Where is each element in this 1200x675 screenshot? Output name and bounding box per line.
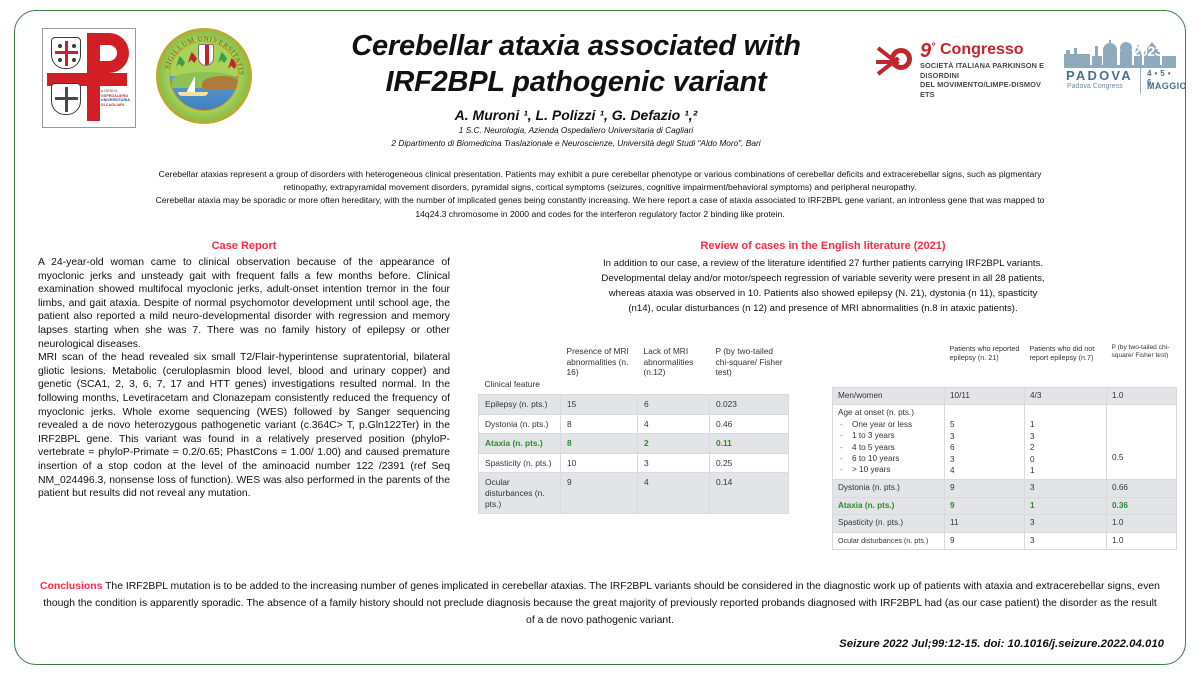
padova-divider <box>1140 68 1141 94</box>
cell-feature: Ataxia (n. pts.) <box>833 497 945 514</box>
review-line-3: whereas ataxia was observed in 10. Patie… <box>470 286 1176 301</box>
cell-epilepsy: 9 <box>945 532 1025 549</box>
cell-feature: Spasticity (n. pts.) <box>479 453 561 473</box>
age-onset-list: One year or less 1 to 3 years 4 to 5 yea… <box>838 419 940 476</box>
affiliation-1: 1 S.C. Neurologia, Azienda Ospedaliero U… <box>290 125 862 136</box>
poster-canvas: AZIENDA OSPEDALIERO UNIVERSITARIA DI CAG… <box>0 0 1200 675</box>
seal-hull-icon <box>178 92 208 96</box>
logo-line-cagliari: DI CAGLIARI <box>101 103 133 108</box>
table-row: Ocular disturbances (n. pts.) 9 3 1.0 <box>833 532 1177 549</box>
padova-year: 2023 <box>1133 43 1162 59</box>
review-column: Review of cases in the English literatur… <box>470 240 1176 316</box>
cell-feature: Men/women <box>833 388 945 405</box>
abstract-line-1: Cerebellar ataxias represent a group of … <box>32 168 1168 181</box>
list-item: 1 to 3 years <box>838 430 940 441</box>
table-row-age-at-onset: Age at onset (n. pts.) One year or less … <box>833 405 1177 480</box>
congress-number: 9° <box>920 40 935 63</box>
value: 5 <box>950 419 1020 430</box>
value: 0 <box>1030 454 1102 465</box>
cell-present: 15 <box>561 395 638 415</box>
cell-lack: 3 <box>638 453 710 473</box>
case-report-body: A 24-year-old woman came to clinical obs… <box>38 256 450 501</box>
conclusions-text: The IRF2BPL mutation is to be added to t… <box>43 581 1160 626</box>
cell-no-epilepsy: 3 <box>1025 480 1107 497</box>
poster-header: AZIENDA OSPEDALIERO UNIVERSITARIA DI CAG… <box>28 22 1172 150</box>
page-title: Cerebellar ataxia associated with IRF2BP… <box>290 22 862 100</box>
table-row-header: Patients who reported epilepsy (n. 21) P… <box>833 338 1177 388</box>
value: 3 <box>1030 431 1102 442</box>
case-report-paragraph-2: MRI scan of the head revealed six small … <box>38 351 450 501</box>
cell-present: 8 <box>561 414 638 434</box>
abstract-block: Cerebellar ataxias represent a group of … <box>32 168 1168 221</box>
title-block: Cerebellar ataxia associated with IRF2BP… <box>290 22 862 149</box>
cell-present: 8 <box>561 434 638 454</box>
th-no-epilepsy: Patients who did not report epilepsy (n.… <box>1025 338 1107 388</box>
conclusions-block: Conclusions The IRF2BPL mutation is to b… <box>38 578 1162 629</box>
seal-sail-icon <box>186 76 195 93</box>
title-line-1: Cerebellar ataxia associated with <box>290 28 862 64</box>
congress-word: Congresso <box>940 41 1024 59</box>
affiliation-2: 2 Dipartimento di Biomedicina Traslazion… <box>290 138 862 149</box>
cell-p: 0.66 <box>1107 480 1177 497</box>
cell-p: 0.46 <box>710 414 789 434</box>
table-row-ataxia-highlight: Ataxia (n. pts.) 8 2 0.11 <box>479 434 789 454</box>
cell-p: 0.023 <box>710 395 789 415</box>
table-row: Spasticity (n. pts.) 10 3 0.25 <box>479 453 789 473</box>
list-item: 6 to 10 years <box>838 453 940 464</box>
title-line-2: IRF2BPL pathogenic variant <box>290 64 862 100</box>
table-row: Ocular disturbances (n. pts.) 9 4 0.14 <box>479 473 789 514</box>
cell-feature: Ataxia (n. pts.) <box>479 434 561 454</box>
table-row: Dystonia (n. pts.) 9 3 0.66 <box>833 480 1177 497</box>
cell-p: 1.0 <box>1107 388 1177 405</box>
value: 1 <box>1030 465 1102 476</box>
author-list: A. Muroni ¹, L. Polizzi ¹, G. Defazio ¹,… <box>290 107 862 123</box>
cell-present: 10 <box>561 453 638 473</box>
cell-p: 1.0 <box>1107 532 1177 549</box>
case-report-heading: Case Report <box>38 240 450 252</box>
cell-feature: Ocular disturbances (n. pts.) <box>833 532 945 549</box>
seal-inner-scene <box>169 41 239 111</box>
value: 0.5 <box>1112 453 1172 463</box>
conclusions-paragraph: Conclusions The IRF2BPL mutation is to b… <box>38 578 1162 629</box>
cell-epilepsy: 9 <box>945 497 1025 514</box>
value: 1 <box>1030 419 1102 430</box>
table-mri-abnormalities: Clinical feature Presence of MRI abnorma… <box>478 338 789 514</box>
review-line-1: In addition to our case, a review of the… <box>470 256 1176 271</box>
logo-universita-bari-seal-icon: SIGILLUM UNIVERSITATIS BARENSIS MCMXX <box>156 28 252 124</box>
value: 3 <box>950 454 1020 465</box>
cell-lack: 2 <box>638 434 710 454</box>
seal-figure-green-right <box>218 52 227 63</box>
th-clinical-feature: Clinical feature <box>479 338 561 395</box>
table-row-men-women: Men/women 10/11 4/3 1.0 <box>833 388 1177 405</box>
cell-no-epilepsy: 3 <box>1025 532 1107 549</box>
university-crest-icon-bottom <box>51 83 81 115</box>
seal-figure-red-left <box>188 52 197 63</box>
review-body: In addition to our case, a review of the… <box>470 256 1176 316</box>
value: 4 <box>950 465 1020 476</box>
cell-age-onset-p: 0.5 <box>1107 405 1177 480</box>
list-item: One year or less <box>838 419 940 430</box>
table-row: Spasticity (n. pts.) 11 3 1.0 <box>833 515 1177 532</box>
review-line-2: Developmental delay and/or motor/speech … <box>470 271 1176 286</box>
limpe-mark-icon <box>876 42 918 80</box>
cell-age-onset-block: Age at onset (n. pts.) One year or less … <box>833 405 945 480</box>
cell-age-onset-no-epilepsy-counts: 1 3 2 0 1 <box>1025 405 1107 480</box>
th-blank <box>833 338 945 388</box>
cell-epilepsy: 11 <box>945 515 1025 532</box>
cell-feature: Dystonia (n. pts.) <box>479 414 561 434</box>
cell-p: 0.14 <box>710 473 789 514</box>
cell-p: 0.36 <box>1107 497 1177 514</box>
logo-azienda-ospedaliera-cagliari-icon: AZIENDA OSPEDALIERO UNIVERSITARIA DI CAG… <box>42 28 136 128</box>
value: 3 <box>950 431 1020 442</box>
logo-cagliari-text: AZIENDA OSPEDALIERO UNIVERSITARIA DI CAG… <box>101 89 133 107</box>
table-row-header: Clinical feature Presence of MRI abnorma… <box>479 338 789 395</box>
cell-lack: 6 <box>638 395 710 415</box>
cell-p: 0.11 <box>710 434 789 454</box>
cell-no-epilepsy: 3 <box>1025 515 1107 532</box>
sardinia-crest-icon-top <box>51 37 81 69</box>
cell-age-onset-epilepsy-counts: 5 3 6 3 4 <box>945 405 1025 480</box>
review-line-4: (n14), ocular disturbances (n 12) and pr… <box>470 301 1176 316</box>
cell-epilepsy: 9 <box>945 480 1025 497</box>
seal-figure-green-left <box>176 56 185 67</box>
th-presence-mri: Presence of MRI abnormalities (n. 16) <box>561 338 638 395</box>
list-item: 4 to 5 years <box>838 442 940 453</box>
cell-feature: Ocular disturbances (n. pts.) <box>479 473 561 514</box>
cell-p: 0.25 <box>710 453 789 473</box>
case-report-column: Case Report A 24-year-old woman came to … <box>38 240 450 501</box>
age-onset-title: Age at onset (n. pts.) <box>838 408 940 418</box>
journal-citation: Seizure 2022 Jul;99:12-15. doi: 10.1016/… <box>839 638 1164 650</box>
th-lack-mri: Lack of MRI abnormalities (n.12) <box>638 338 710 395</box>
cell-p: 1.0 <box>1107 515 1177 532</box>
tables-area: Clinical feature Presence of MRI abnorma… <box>470 338 1180 568</box>
society-line-1: SOCIETÀ ITALIANA PARKINSON E DISORDINI <box>920 61 1048 80</box>
cell-feature: Epilepsy (n. pts.) <box>479 395 561 415</box>
abstract-line-2: retinopathy, extrapyramidal movement dis… <box>32 181 1168 194</box>
table-epilepsy-comparison: Patients who reported epilepsy (n. 21) P… <box>832 338 1177 550</box>
abstract-line-3: Cerebellar ataxia may be sporadic or mor… <box>32 194 1168 207</box>
cell-no-epilepsy: 1 <box>1025 497 1107 514</box>
society-line-2: DEL MOVIMENTO/LIMPE-DISMOV ETS <box>920 80 1048 99</box>
cell-lack: 4 <box>638 414 710 434</box>
cell-lack: 4 <box>638 473 710 514</box>
th-reported-epilepsy: Patients who reported epilepsy (n. 21) <box>945 338 1025 388</box>
value: 6 <box>950 442 1020 453</box>
table-row-ataxia-highlight: Ataxia (n. pts.) 9 1 0.36 <box>833 497 1177 514</box>
table-row: Dystonia (n. pts.) 8 4 0.46 <box>479 414 789 434</box>
cell-feature: Dystonia (n. pts.) <box>833 480 945 497</box>
th-p-value: P (by two-tailed chi-square/ Fisher test… <box>710 338 789 395</box>
padova-venue: Padova Congress <box>1067 83 1123 90</box>
conclusions-label: Conclusions <box>40 581 102 592</box>
cell-feature: Spasticity (n. pts.) <box>833 515 945 532</box>
padova-city: PADOVA <box>1066 68 1133 83</box>
list-item: > 10 years <box>838 464 940 475</box>
review-heading: Review of cases in the English literatur… <box>470 240 1176 252</box>
logo-limpe-congresso-icon: 9° Congresso SOCIETÀ ITALIANA PARKINSON … <box>876 40 1046 96</box>
cell-present: 9 <box>561 473 638 514</box>
logo-padova-2023-icon: 2023 PADOVA Padova Congress 4 • 5 • 6 MA… <box>1064 38 1176 98</box>
padova-month: MAGGIO <box>1147 81 1187 91</box>
table-row: Epilepsy (n. pts.) 15 6 0.023 <box>479 395 789 415</box>
cell-no-epilepsy: 4/3 <box>1025 388 1107 405</box>
seal-shield-icon <box>198 44 214 66</box>
th-p-value: P (by two-tailed chi-square/ Fisher test… <box>1107 338 1177 388</box>
abstract-line-4: 14q24.3 chromosome in 2000 and codes for… <box>32 208 1168 221</box>
seal-hill <box>202 76 238 89</box>
cell-epilepsy: 10/11 <box>945 388 1025 405</box>
value: 2 <box>1030 442 1102 453</box>
case-report-paragraph-1: A 24-year-old woman came to clinical obs… <box>38 256 450 351</box>
logo-loop-shape <box>93 33 129 73</box>
congress-society: SOCIETÀ ITALIANA PARKINSON E DISORDINI D… <box>920 61 1048 99</box>
